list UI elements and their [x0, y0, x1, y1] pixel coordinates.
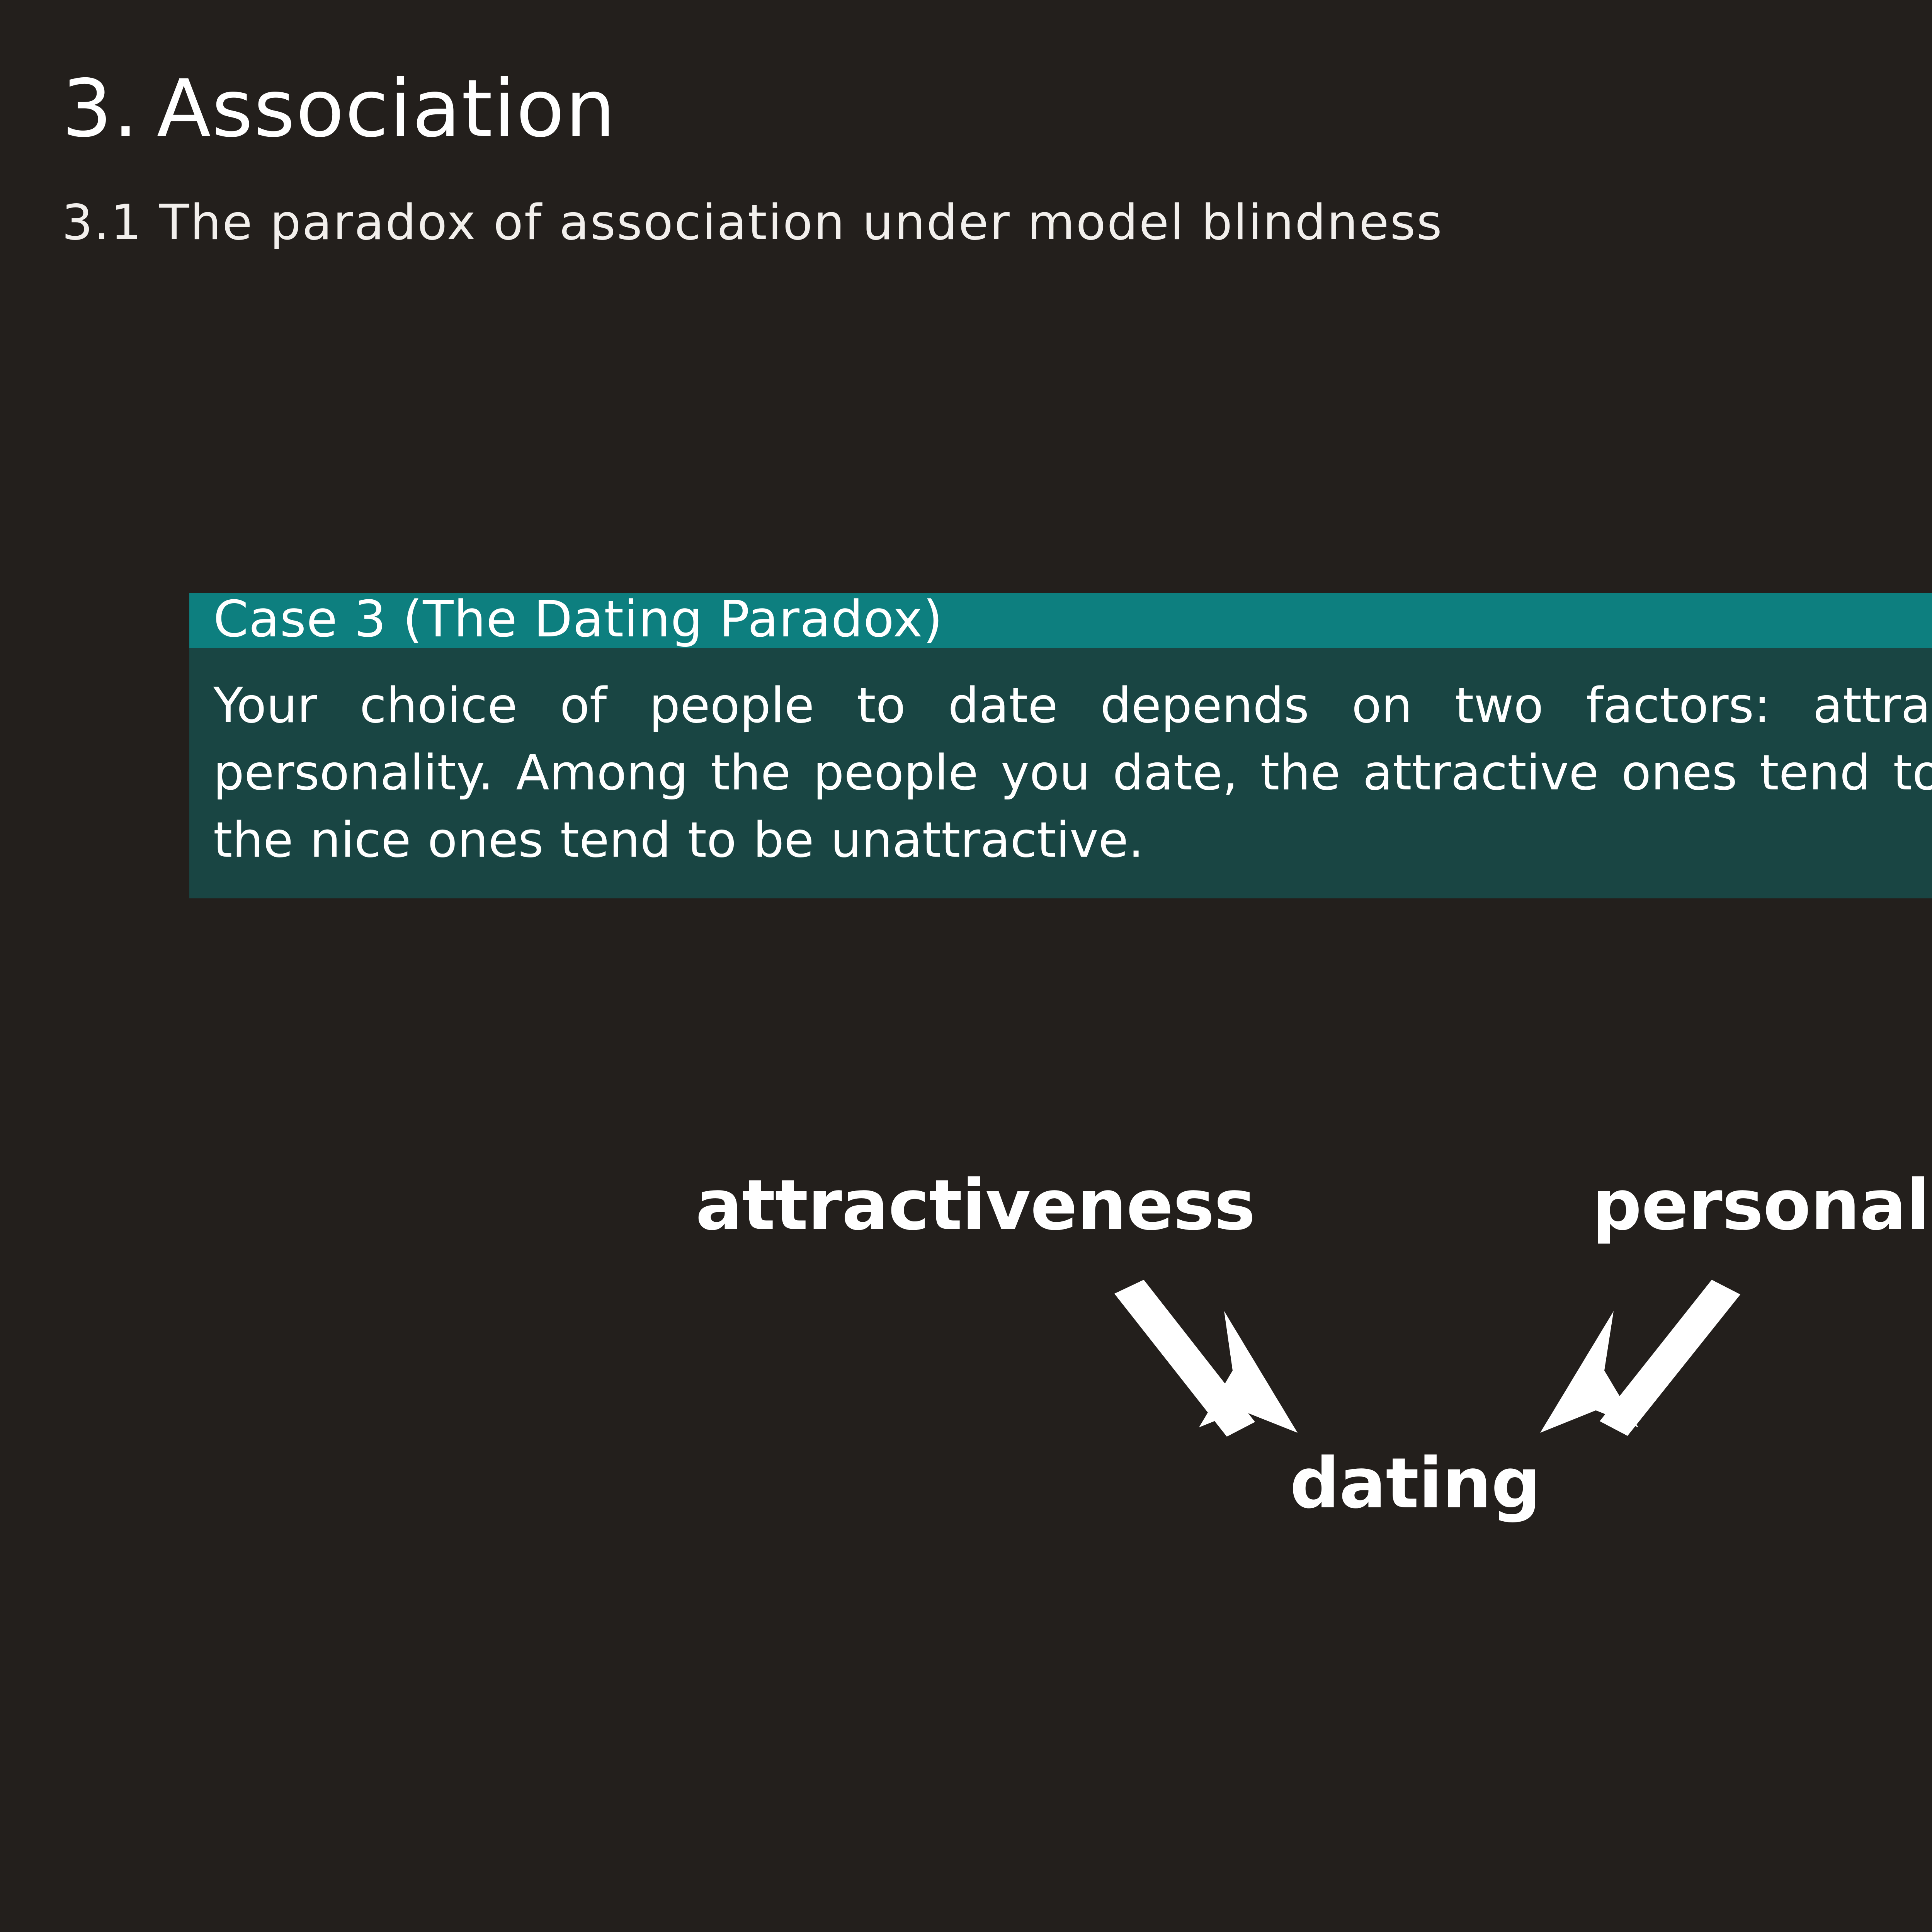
diagram-node-dating: dating — [1290, 1449, 1541, 1519]
arrow-attractiveness-to-dating — [1114, 1280, 1298, 1437]
case-block-body: Your choice of people to date depends on… — [189, 648, 1932, 898]
page-title: 3.Association — [62, 68, 616, 151]
arrow-personality-to-dating — [1540, 1280, 1740, 1436]
case-block-header: Case 3 (The Dating Paradox) — [189, 593, 1932, 648]
case-block-text: Your choice of people to date depends on… — [213, 672, 1932, 874]
slide-canvas: 3.Association 3.1 The paradox of associa… — [0, 0, 1932, 1932]
case-block: Case 3 (The Dating Paradox) Your choice … — [189, 593, 1932, 898]
causal-diagram: attractiveness personality dating — [0, 1144, 1932, 1592]
diagram-node-attractiveness: attractiveness — [696, 1171, 1255, 1240]
section-number: 3. — [62, 63, 139, 155]
diagram-node-personality: personality — [1592, 1171, 1932, 1240]
case-block-title: Case 3 (The Dating Paradox) — [213, 594, 943, 644]
section-title: Association — [157, 63, 616, 155]
subsection-title: 3.1 The paradox of association under mod… — [62, 197, 1443, 248]
